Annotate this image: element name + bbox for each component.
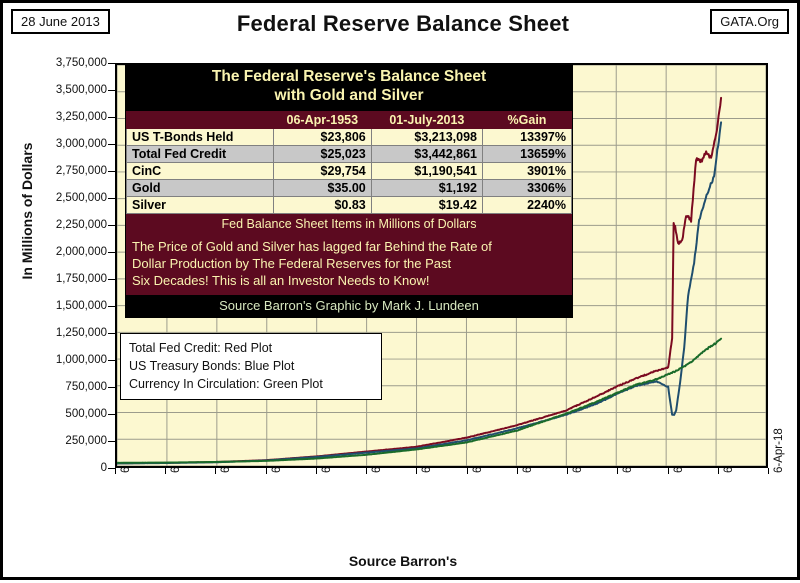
table-row: Gold $35.00 $1,192 3306% [127, 179, 572, 196]
row-value-2013: $3,442,861 [371, 145, 482, 162]
x-tick-mark [416, 468, 417, 474]
row-label: US T-Bonds Held [127, 128, 274, 145]
x-tick-mark [718, 468, 719, 474]
summary-title-line1: The Federal Reserve's Balance Sheet [126, 68, 572, 87]
row-value-gain: 13397% [482, 128, 571, 145]
summary-table: 06-Apr-1953 01-July-2013 %Gain US T-Bond… [126, 111, 572, 214]
table-row: Total Fed Credit $25,023 $3,442,861 1365… [127, 145, 572, 162]
row-value-2013: $19.42 [371, 196, 482, 213]
x-tick-mark [467, 468, 468, 474]
row-value-1953: $23,806 [273, 128, 371, 145]
summary-subtitle: Fed Balance Sheet Items in Millions of D… [126, 214, 572, 234]
row-label: Total Fed Credit [127, 145, 274, 162]
row-value-gain: 13659% [482, 145, 571, 162]
summary-note-line3: Six Decades! This is all an Investor Nee… [132, 272, 566, 289]
x-tick-mark [366, 468, 367, 474]
row-value-1953: $35.00 [273, 179, 371, 196]
row-label: Silver [127, 196, 274, 213]
x-tick-mark [266, 468, 267, 474]
row-label: CinC [127, 162, 274, 179]
summary-panel-title: The Federal Reserve's Balance Sheet with… [126, 64, 572, 111]
legend-item-total-fed-credit: Total Fed Credit: Red Plot [129, 339, 373, 357]
chart-frame: 28 June 2013 GATA.Org Federal Reserve Ba… [0, 0, 800, 580]
x-tick-mark [567, 468, 568, 474]
table-row: CinC $29,754 $1,190,541 3901% [127, 162, 572, 179]
summary-note-line1: The Price of Gold and Silver has lagged … [132, 238, 566, 255]
x-tick-mark [115, 468, 116, 474]
x-tick-mark [668, 468, 669, 474]
x-tick-mark [617, 468, 618, 474]
chart-legend: Total Fed Credit: Red Plot US Treasury B… [120, 333, 382, 400]
row-value-1953: $29,754 [273, 162, 371, 179]
summary-panel: The Federal Reserve's Balance Sheet with… [125, 63, 573, 318]
x-tick-mark [768, 468, 769, 474]
row-value-gain: 2240% [482, 196, 571, 213]
summary-note: The Price of Gold and Silver has lagged … [126, 234, 572, 295]
table-row: Silver $0.83 $19.42 2240% [127, 196, 572, 213]
legend-item-us-treasury-bonds: US Treasury Bonds: Blue Plot [129, 357, 373, 375]
summary-title-line2: with Gold and Silver [126, 87, 572, 106]
column-header-3: %Gain [482, 111, 571, 128]
row-value-gain: 3901% [482, 162, 571, 179]
x-tick-mark [165, 468, 166, 474]
row-value-1953: $0.83 [273, 196, 371, 213]
legend-item-currency-in-circulation: Currency In Circulation: Green Plot [129, 375, 373, 393]
x-tick-mark [316, 468, 317, 474]
row-label: Gold [127, 179, 274, 196]
row-value-2013: $1,192 [371, 179, 482, 196]
column-header-1: 06-Apr-1953 [273, 111, 371, 128]
column-header-0 [127, 111, 274, 128]
x-tick-label: 6-Apr-18 [773, 428, 785, 473]
column-header-2: 01-July-2013 [371, 111, 482, 128]
x-tick-mark [215, 468, 216, 474]
row-value-gain: 3306% [482, 179, 571, 196]
row-value-2013: $1,190,541 [371, 162, 482, 179]
row-value-1953: $25,023 [273, 145, 371, 162]
summary-credit: Source Barron's Graphic by Mark J. Lunde… [126, 295, 572, 317]
summary-note-line2: Dollar Production by The Federal Reserve… [132, 255, 566, 272]
table-header-row: 06-Apr-1953 01-July-2013 %Gain [127, 111, 572, 128]
table-row: US T-Bonds Held $23,806 $3,213,098 13397… [127, 128, 572, 145]
x-tick-mark [517, 468, 518, 474]
row-value-2013: $3,213,098 [371, 128, 482, 145]
